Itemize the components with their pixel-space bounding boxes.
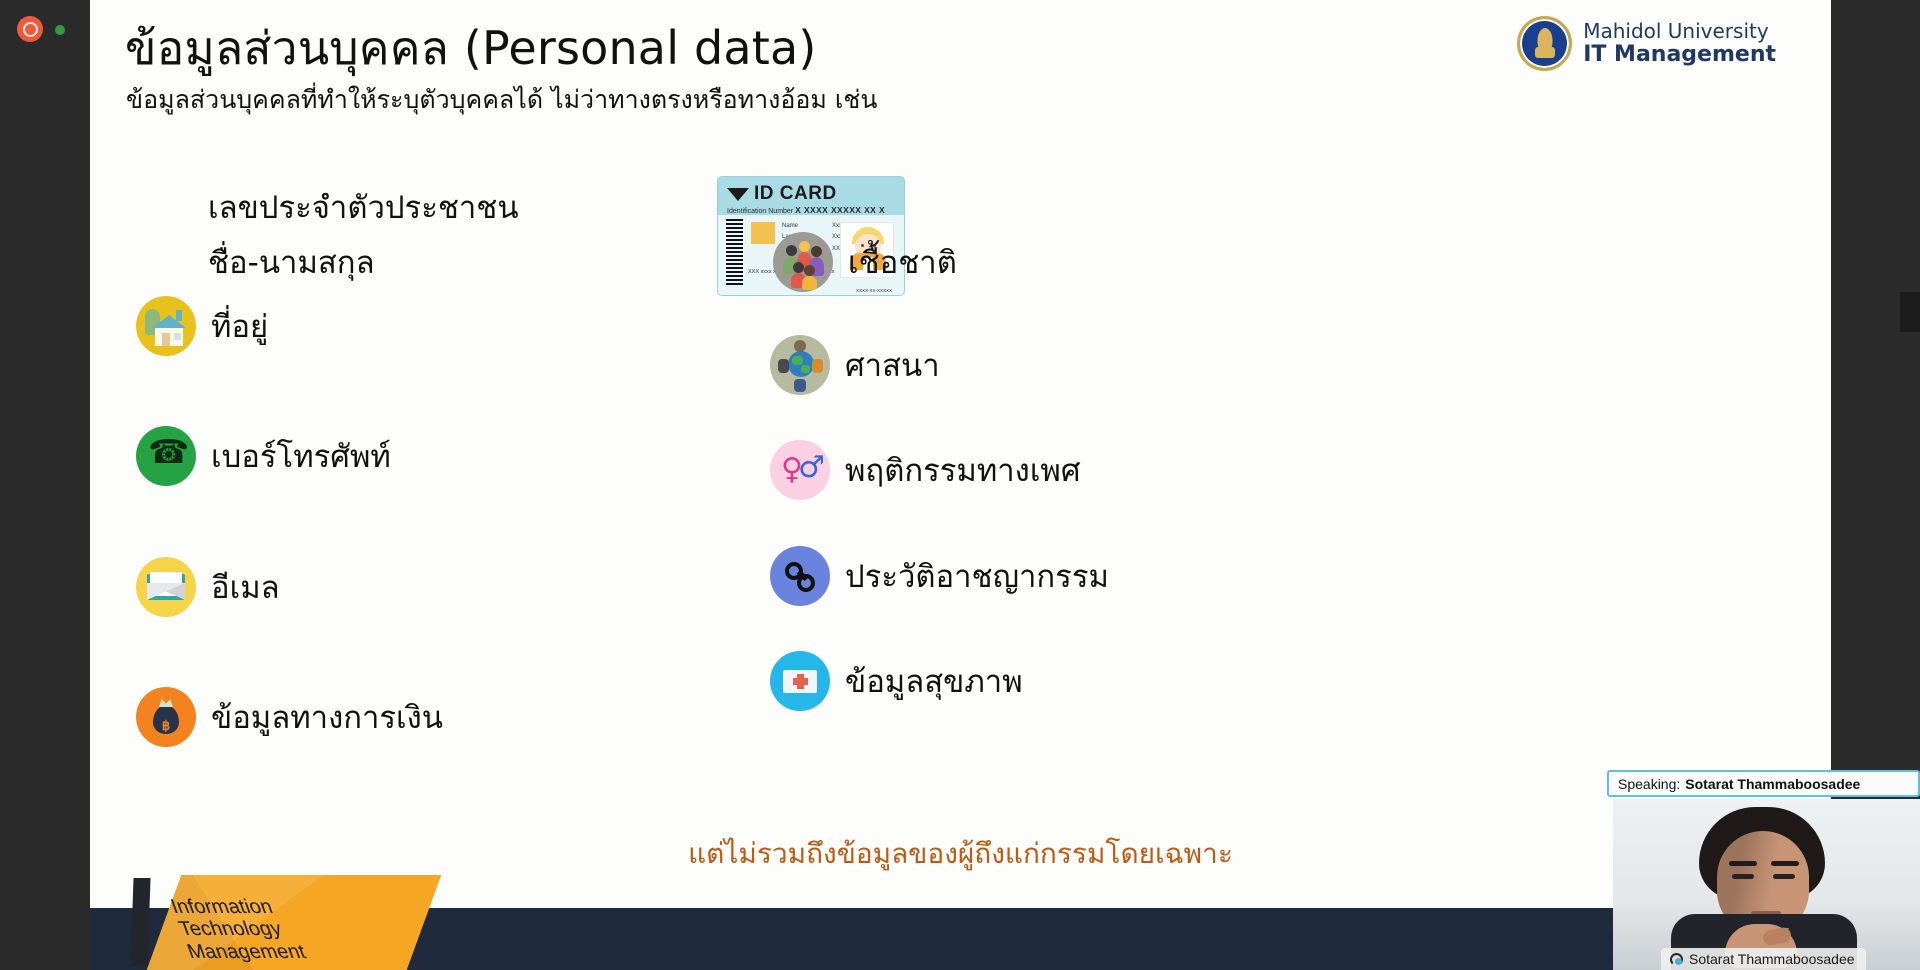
people-group-icon xyxy=(773,232,833,292)
id-card-chip xyxy=(751,222,775,244)
speaking-name: Sotarat Thammaboosadee xyxy=(1685,776,1860,792)
presentation-slide: ข้อมูลส่วนบุคคล (Personal data) ข้อมูลส่… xyxy=(90,0,1831,970)
microphone-icon xyxy=(1669,952,1683,966)
left-item-label-4: อีเมล xyxy=(211,562,280,612)
left-rail xyxy=(0,0,90,970)
participant-nameplate: Sotarat Thammaboosadee xyxy=(1661,948,1866,970)
right-item-label-2: พฤติกรรมทางเพศ xyxy=(845,445,1081,495)
id-card-number-row: Identification Number X XXXX XXXXX XX X xyxy=(727,205,885,215)
badge-line-3: Management xyxy=(184,941,372,963)
left-item-label-0: เลขประจำตัวประชาชน xyxy=(208,182,519,232)
right-item-label-3: ประวัติอาชญากรรม xyxy=(845,551,1109,601)
status-dot-icon[interactable] xyxy=(55,25,65,35)
list-item: เชื้อชาติ xyxy=(773,232,957,292)
handcuffs-icon xyxy=(770,546,830,606)
speaking-label: Speaking: xyxy=(1618,776,1680,792)
id-card-header: ID CARD xyxy=(727,183,837,205)
list-item: อีเมล xyxy=(136,557,280,617)
page-subtitle: ข้อมูลส่วนบุคคลที่ทำให้ระบุตัวบุคคลได้ ไ… xyxy=(126,80,877,120)
list-item: ฿ ข้อมูลทางการเงิน xyxy=(136,687,443,747)
page-title: ข้อมูลส่วนบุคคล (Personal data) xyxy=(125,12,817,85)
list-item: ประวัติอาชญากรรม xyxy=(770,546,1109,606)
brand-line-1: Mahidol University xyxy=(1583,20,1776,43)
mahidol-seal-icon xyxy=(1517,16,1572,71)
badge-line-2: Technology xyxy=(176,918,364,940)
participant-name: Sotarat Thammaboosadee xyxy=(1689,951,1855,967)
triangle-icon xyxy=(727,188,749,201)
right-item-label-1: ศาสนา xyxy=(845,340,940,390)
phone-icon xyxy=(136,426,196,486)
house-icon xyxy=(136,296,196,356)
money-bag-icon: ฿ xyxy=(136,687,196,747)
list-item: ข้อมูลสุขภาพ xyxy=(770,651,1023,711)
recording-indicator-icon[interactable] xyxy=(17,16,43,42)
id-card-number-value: X XXXX XXXXX XX X xyxy=(795,205,885,215)
brand-line-2: IT Management xyxy=(1583,42,1776,67)
badge-slash-icon xyxy=(130,878,150,966)
participant-video-tile[interactable]: Sotarat Thammaboosadee xyxy=(1613,799,1920,970)
video-overlay[interactable]: Speaking: Sotarat Thammaboosadee Sotarat… xyxy=(1607,770,1920,970)
badge-line-1: Information xyxy=(168,896,356,918)
health-cross-icon xyxy=(770,651,830,711)
screen-root: ข้อมูลส่วนบุคคล (Personal data) ข้อมูลส่… xyxy=(0,0,1920,970)
list-item: ♀♂ พฤติกรรมทางเพศ xyxy=(770,440,1081,500)
envelope-icon xyxy=(136,557,196,617)
footer-badge-text: Information Technology Management xyxy=(168,896,372,963)
slide-footer-note: แต่ไม่รวมถึงข้อมูลของผู้ถึงแก่กรรมโดยเฉพ… xyxy=(90,832,1831,876)
id-card-number-label: Identification Number xyxy=(727,208,793,215)
speaking-status-bar: Speaking: Sotarat Thammaboosadee xyxy=(1607,770,1920,797)
id-name-label: Name xyxy=(782,221,832,232)
left-item-label-2: ที่อยู่ xyxy=(211,301,268,351)
right-edge-nub xyxy=(1900,292,1920,332)
globe-people-icon xyxy=(770,335,830,395)
left-item-label-5: ข้อมูลทางการเงิน xyxy=(211,692,443,742)
list-item: เบอร์โทรศัพท์ xyxy=(136,426,391,486)
right-item-label-0: เชื้อชาติ xyxy=(848,237,957,287)
list-item: เลขประจำตัวประชาชน xyxy=(208,182,519,232)
list-item: ที่อยู่ xyxy=(136,296,268,356)
left-item-label-3: เบอร์โทรศัพท์ xyxy=(211,431,391,481)
list-item: ศาสนา xyxy=(770,335,940,395)
barcode-icon xyxy=(726,219,743,285)
id-card-title: ID CARD xyxy=(754,183,837,205)
right-item-label-4: ข้อมูลสุขภาพ xyxy=(845,656,1023,706)
brand-text: Mahidol University IT Management xyxy=(1583,20,1776,68)
brand-logo: Mahidol University IT Management xyxy=(1517,16,1776,71)
gender-symbols-icon: ♀♂ xyxy=(770,440,830,500)
left-item-label-1: ชื่อ-นามสกุล xyxy=(208,237,375,287)
list-item: ชื่อ-นามสกุล xyxy=(208,237,375,287)
